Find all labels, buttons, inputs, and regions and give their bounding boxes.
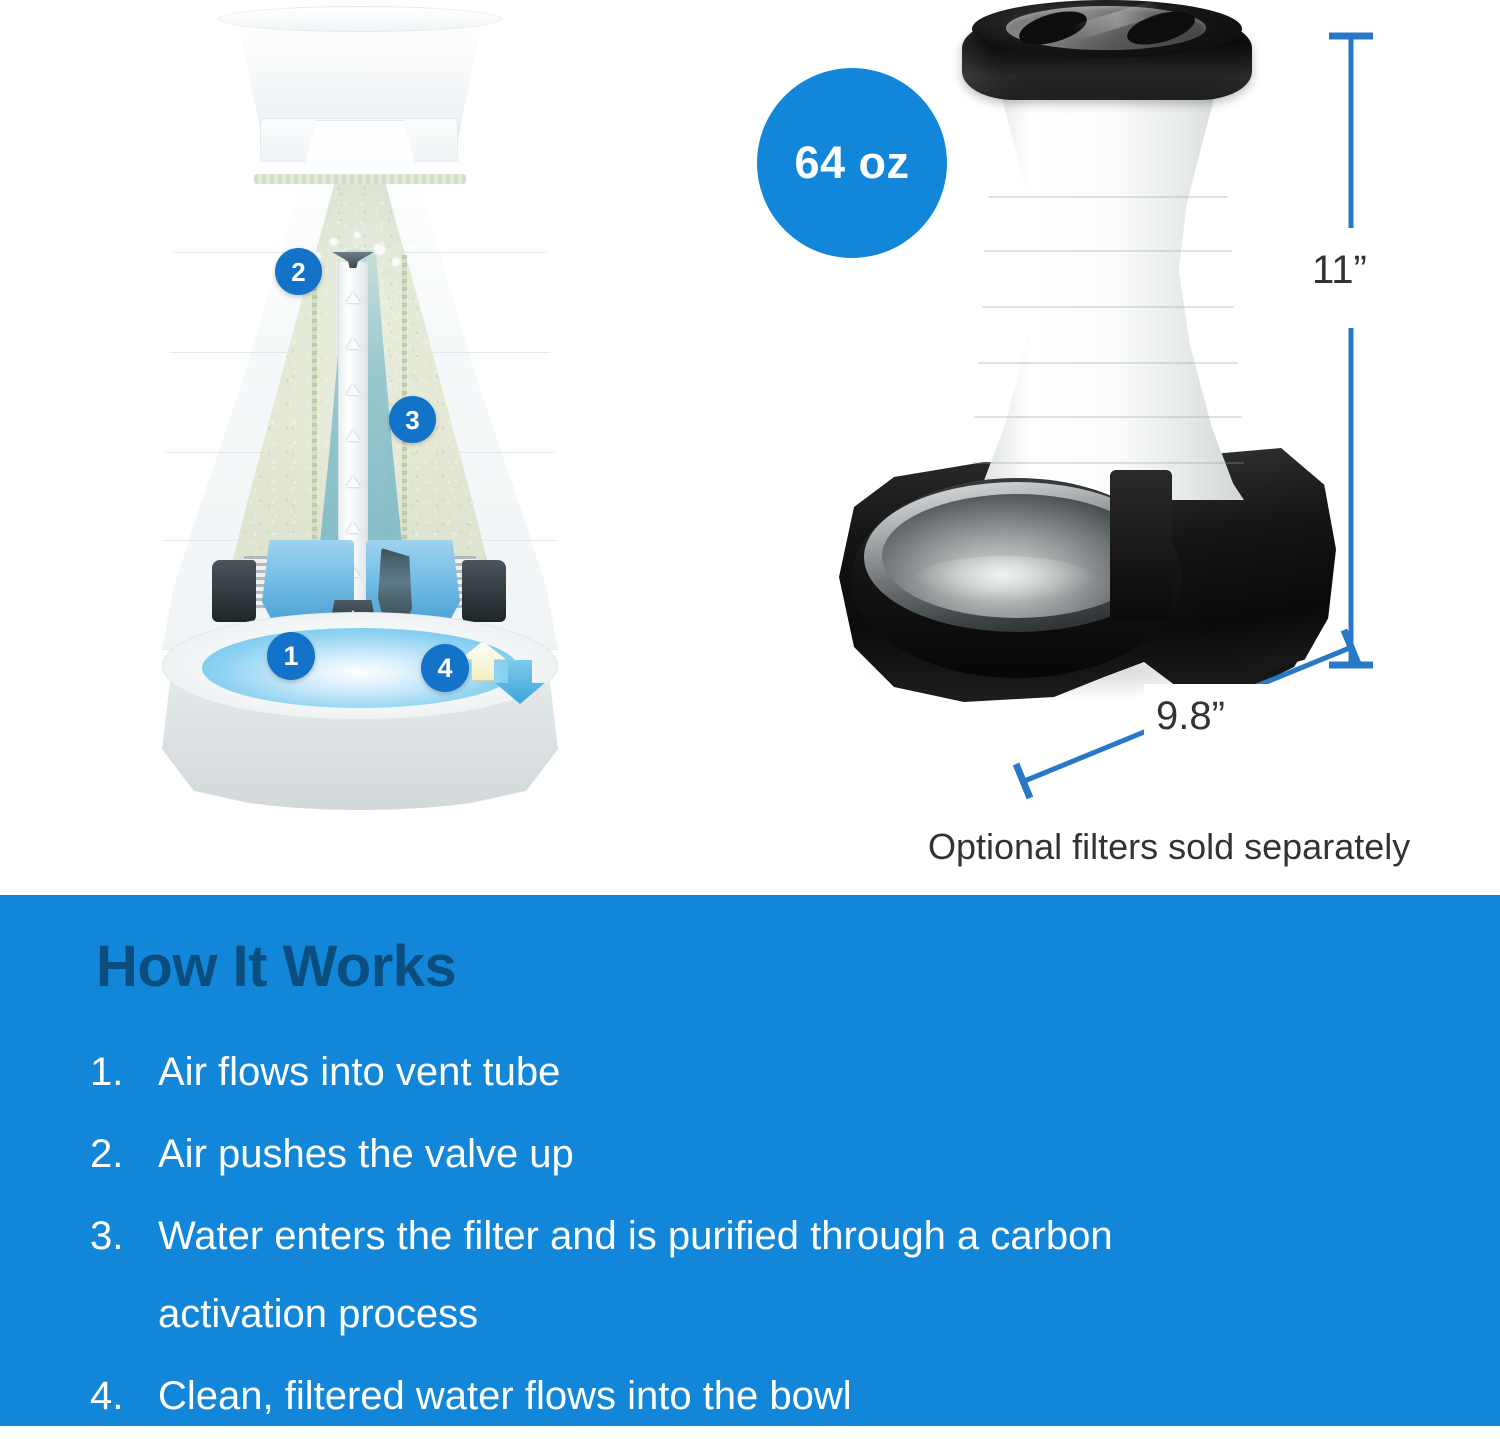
vent-flow-arrow-icon xyxy=(346,522,360,533)
step-number: 4. xyxy=(90,1357,158,1435)
product-reservoir xyxy=(972,88,1244,500)
vent-flow-arrow-icon xyxy=(346,384,360,395)
reservoir-rim-illustration xyxy=(218,6,502,32)
product-bowl-highlight xyxy=(914,556,1094,602)
callout-badge-4-label: 4 xyxy=(437,655,452,682)
reservoir-rib xyxy=(982,306,1234,308)
collar-left xyxy=(212,560,256,622)
air-bubble xyxy=(408,244,415,251)
callout-badge-4: 4 xyxy=(421,644,469,692)
how-it-works-step: 2. Air pushes the valve up xyxy=(90,1115,1420,1193)
width-dimension-label: 9.8” xyxy=(1156,694,1225,739)
vent-flow-arrow-icon xyxy=(346,430,360,441)
vent-flow-arrow-icon xyxy=(346,338,360,349)
how-it-works-step: 4. Clean, filtered water flows into the … xyxy=(90,1357,1420,1435)
step-text: Water enters the filter and is purified … xyxy=(158,1197,1278,1353)
reservoir-rib xyxy=(984,250,1232,252)
filters-footnote: Optional filters sold separately xyxy=(928,826,1488,868)
step-text: Air pushes the valve up xyxy=(158,1115,574,1193)
callout-badge-2: 2 xyxy=(275,248,322,295)
step-number: 1. xyxy=(90,1033,158,1111)
cutaway-diagram: 1 2 3 4 xyxy=(140,0,580,820)
reservoir-rib xyxy=(988,196,1228,198)
height-dimension-label: 11” xyxy=(1312,248,1367,293)
vent-flow-arrow-icon xyxy=(346,292,360,303)
air-bubble xyxy=(392,258,400,266)
how-it-works-title: How It Works xyxy=(96,933,456,1000)
how-it-works-list: 1. Air flows into vent tube 2. Air pushe… xyxy=(90,1033,1420,1439)
step-number: 3. xyxy=(90,1197,158,1353)
callout-badge-3: 3 xyxy=(389,396,436,443)
filter-media-top-edge xyxy=(254,174,466,184)
callout-badge-3-label: 3 xyxy=(405,407,419,433)
air-bubble xyxy=(374,244,385,255)
callout-badge-2-label: 2 xyxy=(291,259,305,285)
air-bubble xyxy=(354,232,360,238)
air-bubble xyxy=(330,238,337,245)
base-center-notch xyxy=(1110,470,1172,620)
how-it-works-step: 1. Air flows into vent tube xyxy=(90,1033,1420,1111)
callout-badge-1-label: 1 xyxy=(283,643,298,670)
reservoir-rib xyxy=(974,416,1242,418)
water-pool-illustration xyxy=(202,628,518,708)
product-photo xyxy=(810,0,1350,800)
callout-badge-1: 1 xyxy=(267,632,315,680)
step-text: Air flows into vent tube xyxy=(158,1033,560,1111)
step-text: Clean, filtered water flows into the bow… xyxy=(158,1357,852,1435)
reservoir-rib xyxy=(972,462,1244,464)
collar-right xyxy=(462,560,506,622)
step-number: 2. xyxy=(90,1115,158,1193)
product-visual-area: 1 2 3 4 64 oz xyxy=(0,0,1500,895)
how-it-works-step: 3. Water enters the filter and is purifi… xyxy=(90,1197,1420,1353)
water-column-edge-left xyxy=(312,255,317,575)
vent-flow-arrow-icon xyxy=(346,476,360,487)
how-it-works-panel: How It Works 1. Air flows into vent tube… xyxy=(0,895,1500,1426)
reservoir-rib xyxy=(978,362,1238,364)
